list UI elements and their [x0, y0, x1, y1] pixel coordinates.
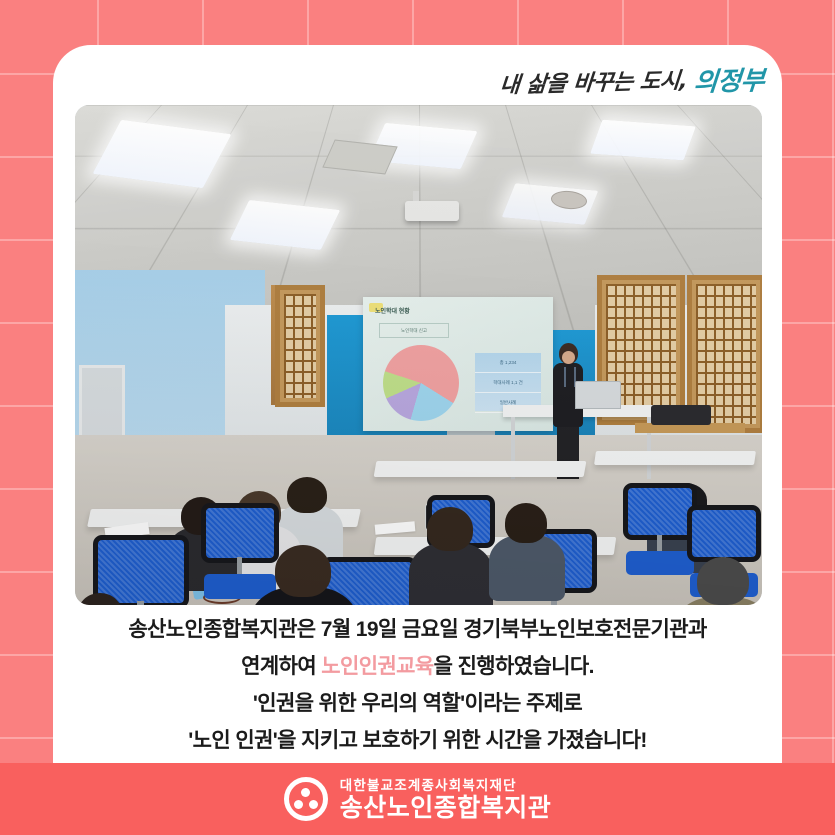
content-card: 내 삶을 바꾸는 도시, 의정부 [53, 45, 782, 763]
presenter-face [562, 351, 575, 364]
slide-subtitle: 노인학대 신고 [379, 323, 449, 338]
slide-title: 노인학대 현황 [375, 306, 410, 315]
av-equipment [651, 405, 711, 425]
caption-block: 송산노인종합복지관은 7월 19일 금요일 경기북부노인보호전문기관과 연계하여… [53, 611, 782, 759]
slide-stat-box: 총 1,234 학대사례 1,1 건 일반사례 [475, 353, 541, 411]
caption-line-2-pre: 연계하여 [241, 655, 321, 678]
slide-stat-row: 총 1,234 [475, 353, 541, 373]
blue-chair [201, 503, 279, 599]
city-slogan: 내 삶을 바꾸는 도시, 의정부 [500, 61, 764, 98]
caption-line-4: '노인 인권'을 지키고 보호하기 위한 시간을 가졌습니다! [53, 722, 782, 759]
caption-line-2: 연계하여 노인인권교육을 진행하였습니다. [53, 648, 782, 685]
event-photo: 노인학대 현황 노인학대 신고 총 1,234 학대사례 1,1 건 일반사례 [75, 105, 762, 605]
presenter-laptop [575, 381, 621, 409]
ceiling-projector [405, 201, 459, 221]
footer-bar: 대한불교조계종사회복지재단 송산노인종합복지관 [0, 763, 835, 835]
slide-pie-chart [383, 345, 459, 421]
blue-chair [623, 483, 697, 575]
caption-line-3: '인권을 위한 우리의 역할'이라는 주제로 [53, 685, 782, 722]
slogan-city-text: 의정부 [692, 60, 765, 99]
participant-table [594, 451, 756, 465]
brand-header: 내 삶을 바꾸는 도시, 의정부 [53, 53, 782, 105]
footer-text-block: 대한불교조계종사회복지재단 송산노인종합복지관 [340, 777, 552, 822]
hanok-lattice-screen [275, 285, 325, 407]
poster-page: 내 삶을 바꾸는 도시, 의정부 [0, 0, 835, 835]
caption-line-2-post: 을 진행하였습니다. [434, 655, 594, 678]
caption-highlight: 노인인권교육 [321, 655, 433, 678]
ceiling-light [590, 120, 696, 161]
photo-scene: 노인학대 현황 노인학대 신고 총 1,234 학대사례 1,1 건 일반사례 [75, 105, 762, 605]
slogan-main-text: 내 삶을 바꾸는 도시, [499, 62, 689, 99]
participant-table [374, 461, 587, 477]
caption-line-1: 송산노인종합복지관은 7월 19일 금요일 경기북부노인보호전문기관과 [53, 611, 782, 648]
footer-organization: 대한불교조계종사회복지재단 [340, 777, 552, 794]
footer-center-name: 송산노인종합복지관 [340, 794, 552, 822]
slide-stat-row: 학대사례 1,1 건 [475, 373, 541, 393]
three-dot-circle-logo-icon [284, 777, 328, 821]
